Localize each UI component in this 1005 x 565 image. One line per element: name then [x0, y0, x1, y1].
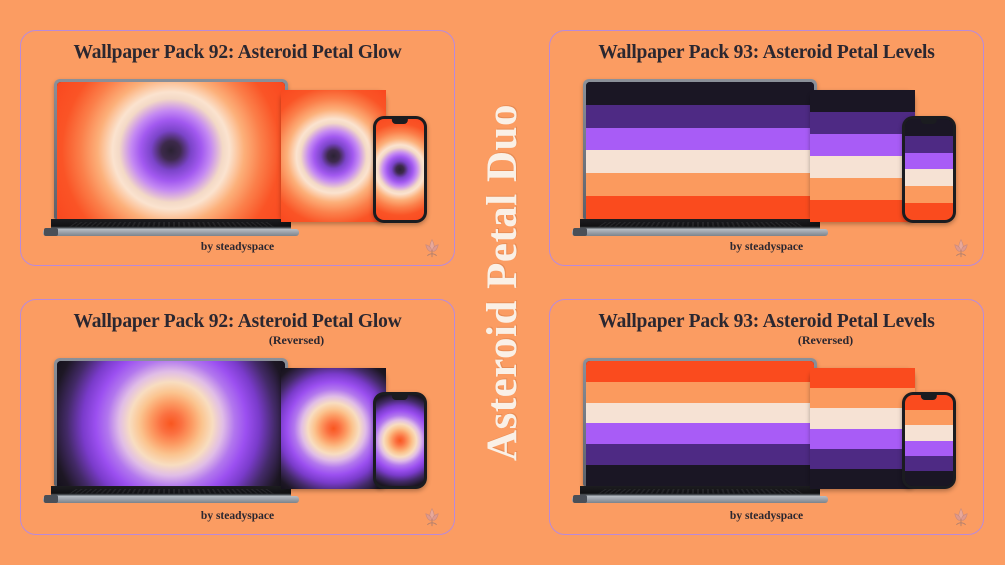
tablet-mockup: [281, 90, 386, 222]
wallpaper-stripe-1: [905, 136, 953, 153]
phone-mockup: [902, 392, 956, 489]
poster-stage: Wallpaper Pack 92: Asteroid Petal Glow: [0, 0, 1005, 565]
lotus-flower-icon: [951, 506, 971, 528]
phone-notch: [392, 119, 408, 124]
wallpaper-stripe-2: [814, 408, 911, 428]
tablet-frame: [810, 90, 915, 222]
device-mockup-group: [21, 358, 454, 523]
laptop-mockup: [54, 358, 288, 486]
tablet-screen: [814, 94, 911, 218]
card-subtitle: (Reversed): [550, 333, 983, 348]
wallpaper-glow-reversed: [376, 395, 424, 486]
laptop-lid: [583, 358, 817, 486]
phone-mockup: [373, 116, 427, 223]
wallpaper-stripe-3: [905, 441, 953, 456]
laptop-mockup: [583, 358, 817, 486]
tablet-mockup: [281, 368, 386, 489]
tablet-frame: [281, 368, 386, 489]
wallpaper-stripe-2: [814, 134, 911, 156]
phone-frame: [902, 116, 956, 223]
poster-vertical-title: Asteroid Petal Duo: [471, 0, 533, 565]
wallpaper-stripe-4: [905, 456, 953, 471]
laptop-base: [43, 496, 299, 503]
phone-screen: [905, 119, 953, 220]
tablet-screen: [285, 94, 382, 218]
wallpaper-card-top-right[interactable]: Wallpaper Pack 93: Asteroid Petal Levels: [549, 30, 984, 266]
wallpaper-stripe-5: [586, 196, 814, 219]
laptop-mockup: [54, 79, 288, 219]
wallpaper-glow-reversed: [57, 361, 285, 486]
tablet-mockup: [810, 90, 915, 222]
laptop-foot: [573, 495, 587, 503]
wallpaper-stripe-1: [814, 112, 911, 134]
wallpaper-glow-reversed: [285, 372, 382, 485]
laptop-lid: [54, 79, 288, 219]
wallpaper-stripe-5: [814, 469, 911, 485]
wallpaper-card-top-left[interactable]: Wallpaper Pack 92: Asteroid Petal Glow: [20, 30, 455, 266]
laptop-keys: [69, 222, 273, 226]
card-title: Wallpaper Pack 92: Asteroid Petal Glow: [21, 311, 454, 333]
wallpaper-stripes: [814, 94, 911, 218]
wallpaper-stripe-1: [586, 382, 814, 403]
laptop-lid: [54, 358, 288, 486]
laptop-foot: [44, 228, 58, 236]
phone-notch: [392, 395, 408, 400]
laptop-mockup: [583, 79, 817, 219]
phone-mockup: [902, 116, 956, 223]
phone-frame: [373, 116, 427, 223]
device-mockup-group: [550, 79, 983, 254]
wallpaper-card-bottom-right[interactable]: Wallpaper Pack 93: Asteroid Petal Levels…: [549, 299, 984, 535]
wallpaper-glow: [285, 94, 382, 218]
wallpaper-stripe-4: [905, 186, 953, 203]
card-byline: by steadyspace: [21, 510, 454, 522]
tablet-frame: [281, 90, 386, 222]
wallpaper-stripe-1: [905, 410, 953, 425]
laptop-foot: [44, 495, 58, 503]
laptop-keys: [598, 222, 802, 226]
device-mockup-group: [21, 79, 454, 254]
phone-notch: [921, 395, 937, 400]
laptop-base: [572, 496, 828, 503]
wallpaper-stripe-4: [586, 173, 814, 196]
wallpaper-stripes-reversed: [905, 395, 953, 486]
laptop-base: [572, 229, 828, 236]
wallpaper-stripes: [905, 119, 953, 220]
wallpaper-stripe-3: [814, 156, 911, 178]
laptop-base: [43, 229, 299, 236]
card-title: Wallpaper Pack 93: Asteroid Petal Levels: [550, 42, 983, 64]
wallpaper-stripe-3: [586, 423, 814, 444]
laptop-screen: [586, 361, 814, 486]
wallpaper-stripe-2: [905, 153, 953, 170]
card-byline: by steadyspace: [550, 510, 983, 522]
wallpaper-stripes-reversed: [814, 372, 911, 485]
wallpaper-stripe-2: [586, 403, 814, 424]
device-mockup-group: [550, 358, 983, 523]
wallpaper-stripe-0: [814, 372, 911, 388]
wallpaper-stripe-4: [814, 449, 911, 469]
wallpaper-stripe-0: [586, 82, 814, 105]
wallpaper-stripe-1: [586, 105, 814, 128]
phone-mockup: [373, 392, 427, 489]
wallpaper-stripe-3: [814, 429, 911, 449]
laptop-screen: [586, 82, 814, 219]
lotus-flower-icon: [422, 506, 442, 528]
wallpaper-stripe-4: [814, 178, 911, 200]
phone-screen: [376, 119, 424, 220]
phone-screen: [376, 395, 424, 486]
poster-vertical-title-text: Asteroid Petal Duo: [478, 104, 527, 461]
wallpaper-stripe-0: [586, 361, 814, 382]
tablet-screen: [814, 372, 911, 485]
wallpaper-stripe-2: [586, 128, 814, 151]
wallpaper-stripe-0: [814, 94, 911, 112]
card-byline: by steadyspace: [21, 241, 454, 253]
laptop-keys: [69, 489, 273, 493]
tablet-screen: [285, 372, 382, 485]
wallpaper-stripe-1: [814, 388, 911, 408]
card-title: Wallpaper Pack 93: Asteroid Petal Levels: [550, 311, 983, 333]
phone-frame: [373, 392, 427, 489]
wallpaper-stripe-4: [586, 444, 814, 465]
wallpaper-stripe-2: [905, 425, 953, 440]
card-byline: by steadyspace: [550, 241, 983, 253]
phone-frame: [902, 392, 956, 489]
wallpaper-stripe-5: [905, 203, 953, 220]
lotus-flower-icon: [422, 237, 442, 259]
tablet-frame: [810, 368, 915, 489]
wallpaper-glow: [376, 119, 424, 220]
wallpaper-stripe-3: [905, 169, 953, 186]
tablet-mockup: [810, 368, 915, 489]
lotus-flower-icon: [951, 237, 971, 259]
wallpaper-stripe-3: [586, 150, 814, 173]
wallpaper-card-bottom-left[interactable]: Wallpaper Pack 92: Asteroid Petal Glow (…: [20, 299, 455, 535]
wallpaper-stripes: [586, 82, 814, 219]
laptop-screen: [57, 82, 285, 219]
laptop-keys: [598, 489, 802, 493]
phone-screen: [905, 395, 953, 486]
wallpaper-stripe-5: [905, 471, 953, 486]
wallpaper-glow: [57, 82, 285, 219]
wallpaper-stripes-reversed: [586, 361, 814, 486]
wallpaper-stripe-5: [814, 200, 911, 218]
card-subtitle: (Reversed): [21, 333, 454, 348]
wallpaper-stripe-5: [586, 465, 814, 486]
laptop-foot: [573, 228, 587, 236]
laptop-screen: [57, 361, 285, 486]
laptop-lid: [583, 79, 817, 219]
card-title: Wallpaper Pack 92: Asteroid Petal Glow: [21, 42, 454, 64]
phone-notch: [921, 119, 937, 124]
